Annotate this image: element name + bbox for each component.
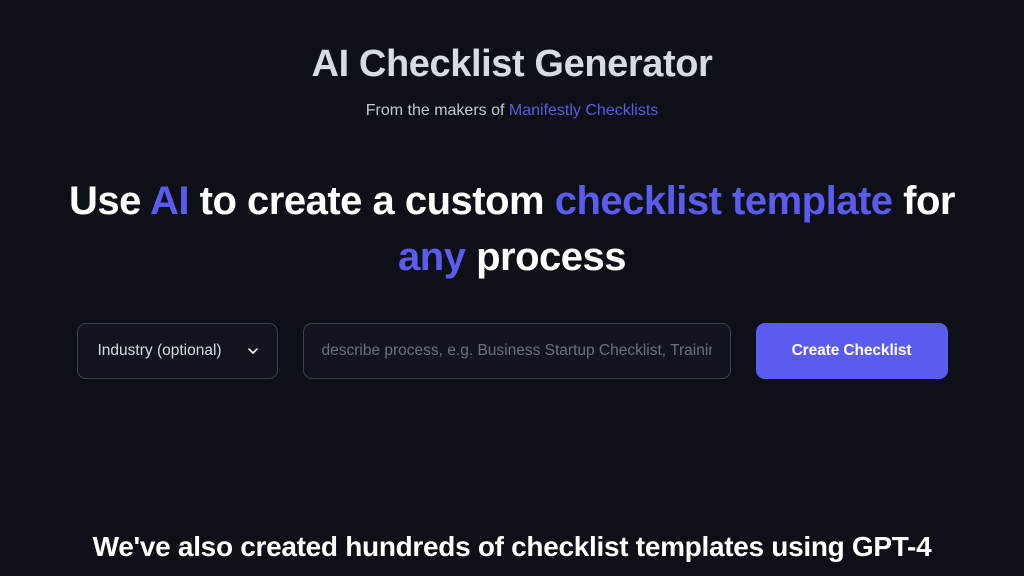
hero-accent-ai: AI xyxy=(150,179,189,223)
hero-text-3: for xyxy=(893,179,955,223)
page-title: AI Checklist Generator xyxy=(0,44,1024,86)
industry-select-wrapper: Industry (optional) xyxy=(77,323,278,379)
industry-select[interactable]: Industry (optional) xyxy=(77,323,278,379)
hero-accent-checklist-template: checklist template xyxy=(555,179,893,223)
process-description-input[interactable] xyxy=(303,323,731,379)
hero-text-4: process xyxy=(465,235,626,279)
create-checklist-button[interactable]: Create Checklist xyxy=(756,323,948,379)
landing-page: AI Checklist Generator From the makers o… xyxy=(0,0,1024,576)
templates-heading: We've also created hundreds of checklist… xyxy=(40,527,984,566)
tagline-prefix: From the makers of xyxy=(366,102,509,119)
page-header: AI Checklist Generator From the makers o… xyxy=(0,0,1024,120)
tagline: From the makers of Manifestly Checklists xyxy=(0,102,1024,120)
hero-section: Use AI to create a custom checklist temp… xyxy=(0,173,1024,379)
templates-section: We've also created hundreds of checklist… xyxy=(0,527,1024,566)
hero-heading: Use AI to create a custom checklist temp… xyxy=(60,173,964,285)
checklist-form: Industry (optional) Create Checklist xyxy=(60,323,964,379)
hero-accent-any: any xyxy=(398,235,465,279)
manifestly-checklists-link[interactable]: Manifestly Checklists xyxy=(509,102,658,119)
hero-text-1: Use xyxy=(69,179,150,223)
hero-text-2: to create a custom xyxy=(189,179,555,223)
